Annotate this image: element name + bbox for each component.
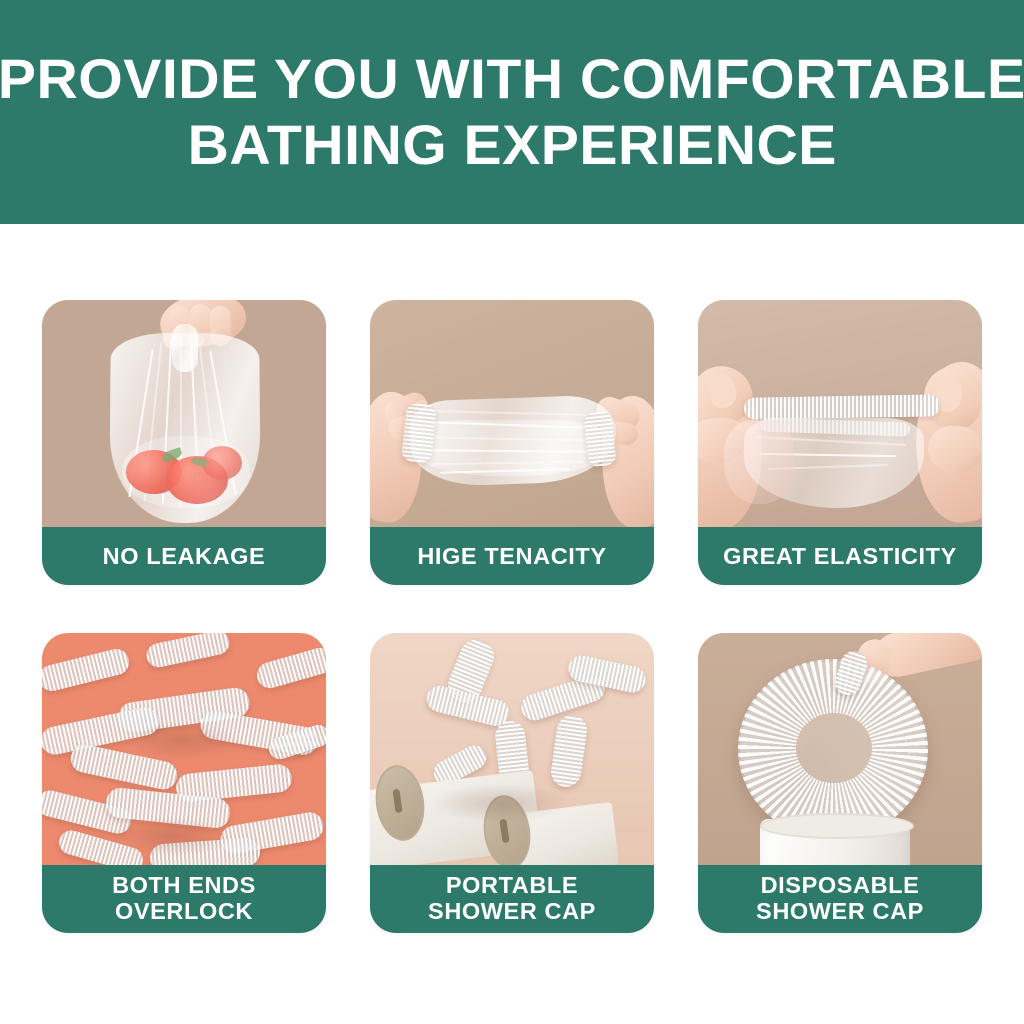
card-label-disposable-shower-cap: DISPOSABLE SHOWER CAP [698,865,982,933]
banner-headline-line-2: BATHING EXPERIENCE [187,112,836,178]
feature-card-both-ends-overlock: BOTH ENDS OVERLOCK [42,633,326,933]
feature-card-hige-tenacity: HIGE TENACITY [370,300,654,585]
photo-both-ends-overlock [42,633,326,865]
photo-hige-tenacity [370,300,654,527]
photo-great-elasticity [698,300,982,527]
feature-card-no-leakage: NO LEAKAGE [42,300,326,585]
card-label-text: HIGE TENACITY [417,543,606,569]
photo-no-leakage [42,300,326,527]
banner-headline-line-1: PROVIDE YOU WITH COMFORTABLE [0,46,1024,112]
card-label-portable-shower-cap: PORTABLE SHOWER CAP [370,865,654,933]
card-label-both-ends-overlock: BOTH ENDS OVERLOCK [42,865,326,933]
feature-card-disposable-shower-cap: DISPOSABLE SHOWER CAP [698,633,982,933]
infographic-page: PROVIDE YOU WITH COMFORTABLE BATHING EXP… [0,0,1024,1024]
card-label-hige-tenacity: HIGE TENACITY [370,527,654,585]
photo-disposable-shower-cap [698,633,982,865]
feature-card-portable-shower-cap: PORTABLE SHOWER CAP [370,633,654,933]
header-banner: PROVIDE YOU WITH COMFORTABLE BATHING EXP… [0,0,1024,224]
card-label-text-line-2: OVERLOCK [112,898,256,924]
card-label-text: NO LEAKAGE [103,543,266,569]
card-label-text-line-1: BOTH ENDS [112,872,256,898]
card-label-text-line-2: SHOWER CAP [756,898,924,924]
card-label-no-leakage: NO LEAKAGE [42,527,326,585]
card-label-text-line-2: SHOWER CAP [428,898,596,924]
feature-card-great-elasticity: GREAT ELASTICITY [698,300,982,585]
card-label-great-elasticity: GREAT ELASTICITY [698,527,982,585]
feature-card-grid: NO LEAKAGE [42,300,982,933]
card-label-text-line-1: DISPOSABLE [756,872,924,898]
card-label-text-line-1: PORTABLE [428,872,596,898]
card-label-text: GREAT ELASTICITY [723,543,957,569]
photo-portable-shower-cap [370,633,654,865]
